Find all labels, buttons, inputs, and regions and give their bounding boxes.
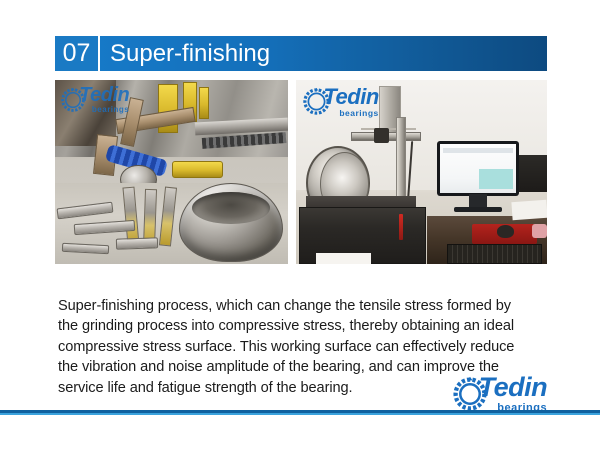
brand-name: Tedin	[479, 374, 548, 401]
monitor-base	[454, 207, 502, 213]
superfinishing-machine-photo: Tedin bearings	[55, 80, 288, 264]
slide-number-badge: 07	[55, 36, 100, 71]
brand-name: Tedin	[323, 86, 378, 108]
page-title: Super-finishing	[110, 36, 270, 71]
photo-row: Tedin bearings	[55, 80, 547, 264]
paper-on-floor	[316, 253, 371, 264]
yellow-guard-3	[199, 87, 208, 118]
tedin-wordmark: Tedin bearings	[79, 85, 129, 114]
yellow-cylinder	[172, 161, 223, 178]
footer-divider-light	[0, 413, 600, 415]
screen-toolbar	[443, 148, 514, 153]
hand-tool-4	[115, 238, 157, 250]
monitor-screen	[440, 144, 517, 193]
tedin-logo-footer: Tedin bearings	[452, 374, 557, 414]
screen-data-panel	[479, 169, 513, 189]
computer-keyboard	[447, 244, 542, 264]
wall-edge-line	[361, 128, 416, 130]
tedin-wordmark: Tedin bearings	[323, 86, 378, 118]
computer-monitor	[437, 141, 520, 196]
printer	[519, 155, 547, 192]
computer-mouse	[497, 225, 515, 238]
footer-divider	[0, 410, 600, 415]
slide-canvas: 07 Super-finishing	[0, 0, 600, 450]
tedin-watermark-right: Tedin bearings	[302, 86, 386, 118]
slide-header: 07 Super-finishing	[55, 36, 547, 71]
brand-name: Tedin	[79, 85, 129, 105]
red-marker-pen	[399, 214, 403, 240]
title-bar: Super-finishing	[100, 36, 547, 71]
pink-object	[532, 224, 547, 239]
tedin-wordmark: Tedin bearings	[479, 374, 548, 414]
brand-tagline: bearings	[79, 106, 129, 114]
bearing-inspection-station-photo: Tedin bearings	[296, 80, 547, 264]
tedin-watermark-left: Tedin bearings	[60, 85, 136, 114]
paper-sheet	[511, 200, 547, 221]
brand-tagline: bearings	[323, 109, 378, 118]
measuring-probe-head	[374, 128, 389, 143]
